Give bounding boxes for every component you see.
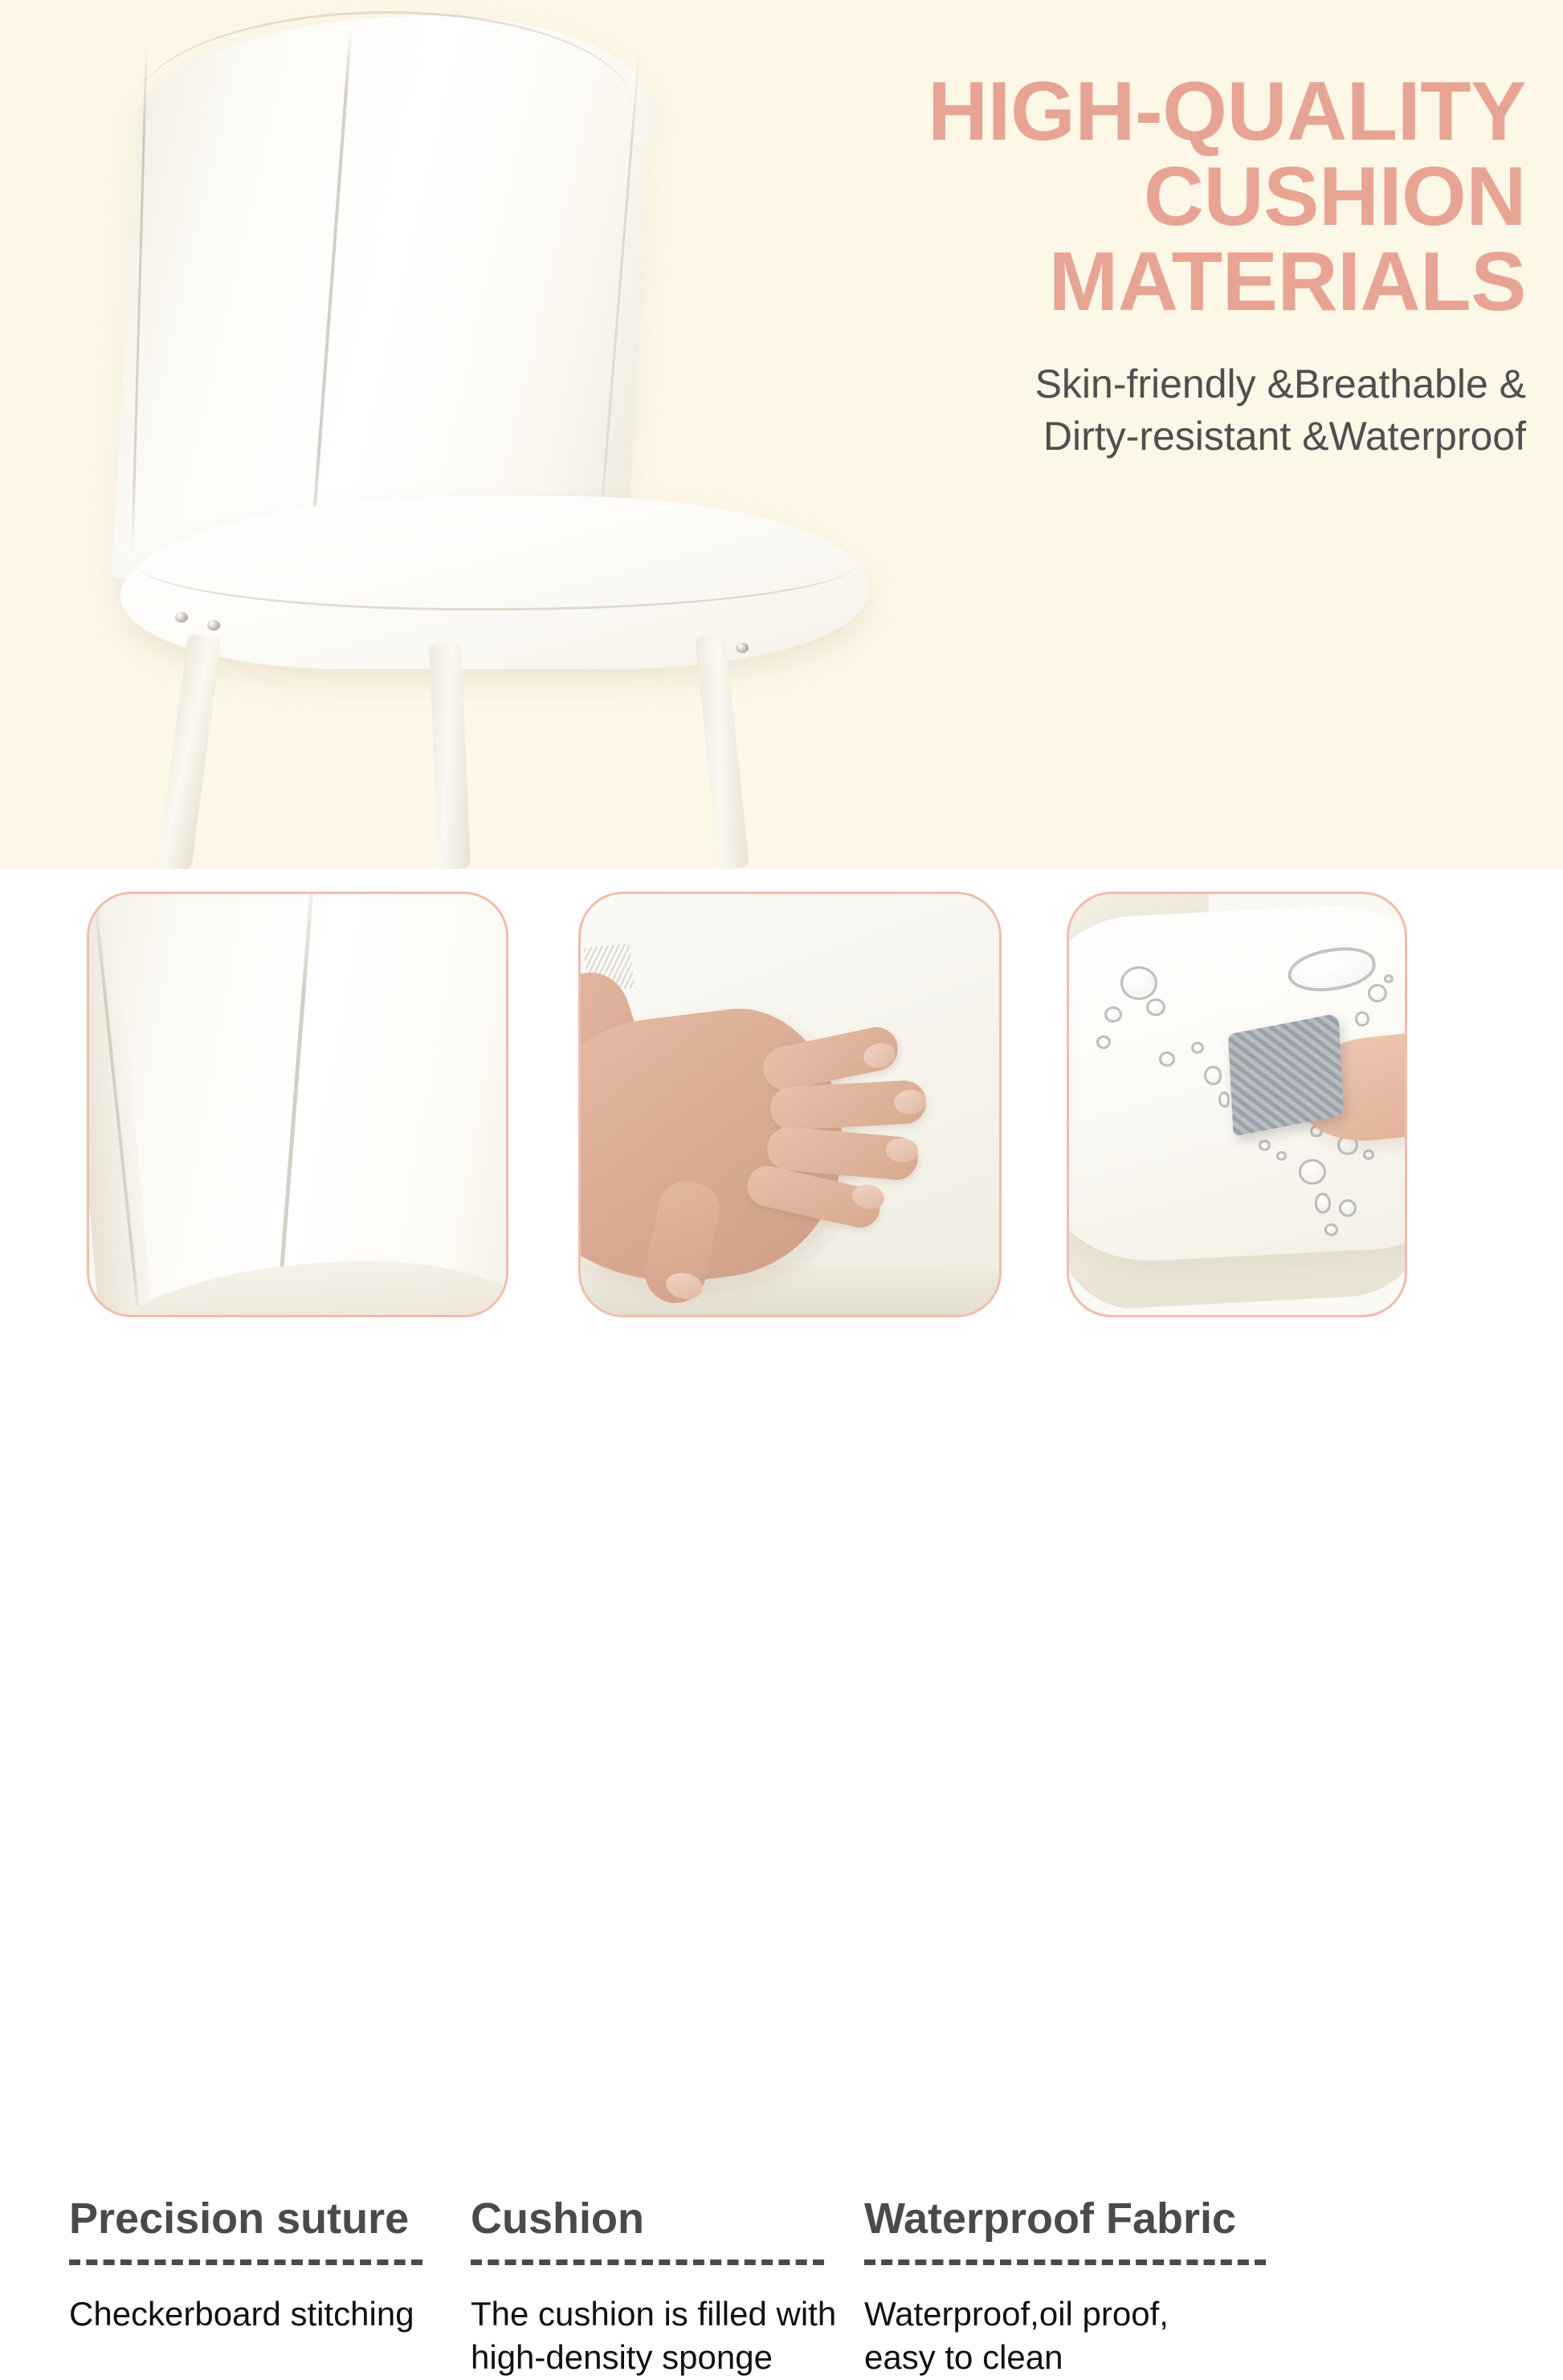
feature-title: Cushion [471, 2196, 872, 2242]
water-droplet-icon [1096, 1035, 1111, 1049]
water-droplet-icon [1339, 1199, 1357, 1217]
water-droplet-icon [1104, 1006, 1122, 1023]
hero-subtitle-line-1: Skin-friendly &Breathable & [675, 358, 1526, 410]
feature-description-line-2: high-density sponge [471, 2336, 872, 2380]
feature-cards-section: Precision suture Checkerboard stitching … [0, 869, 1563, 1563]
chair-screw-icon [207, 620, 220, 631]
cleaning-cloth-front [1228, 1013, 1344, 1137]
hero-section: HIGH-QUALITY CUSHION MATERIALS Skin-frie… [0, 0, 1563, 869]
feature-description-line-1: The cushion is filled with [471, 2292, 872, 2337]
water-droplet-icon [1299, 1159, 1326, 1185]
feature-description-line-2: easy to clean [864, 2336, 1314, 2380]
feature-caption-cushion: Cushion The cushion is filled with high-… [471, 2196, 872, 2380]
hero-headline-line-3: MATERIALS [675, 239, 1526, 325]
hero-subtitle-line-2: Dirty-resistant &Waterproof [675, 410, 1526, 463]
feature-thumbnail-cushion [578, 892, 1002, 1317]
hero-headline: HIGH-QUALITY CUSHION MATERIALS [675, 69, 1526, 325]
feature-caption-precision-suture: Precision suture Checkerboard stitching [69, 2196, 487, 2336]
chair-screw-icon [736, 643, 749, 653]
feature-card-cushion [578, 892, 1002, 1317]
feature-card-waterproof-fabric [1067, 892, 1407, 1317]
feature-title: Waterproof Fabric [864, 2196, 1314, 2242]
water-droplet-icon [1368, 984, 1387, 1002]
hero-headline-line-1: HIGH-QUALITY [675, 69, 1526, 154]
feature-divider [69, 2260, 422, 2265]
feature-caption-waterproof-fabric: Waterproof Fabric Waterproof,oil proof, … [864, 2196, 1314, 2380]
hero-copy: HIGH-QUALITY CUSHION MATERIALS Skin-frie… [675, 69, 1526, 463]
water-droplet-icon [1315, 1193, 1331, 1214]
feature-description-line-1: Waterproof,oil proof, [864, 2292, 1314, 2337]
feature-description-line-1: Checkerboard stitching [69, 2292, 487, 2337]
water-droplet-icon [1259, 1140, 1271, 1151]
chair-leg-front-right [429, 642, 471, 869]
water-droplet-icon [1324, 1223, 1338, 1236]
water-droplet-icon [1159, 1051, 1175, 1067]
chair-leg-front-left [157, 634, 222, 869]
feature-description: Checkerboard stitching [69, 2292, 487, 2337]
feature-thumbnail-precision-suture [87, 892, 508, 1317]
chair-backrest-top-curve [134, 11, 637, 108]
water-droplet-icon [1191, 1042, 1204, 1054]
water-droplet-icon [1355, 1011, 1369, 1027]
chair-leg-back-right [695, 634, 749, 869]
water-droplet-icon [1204, 1066, 1222, 1085]
feature-card-precision-suture [87, 892, 508, 1317]
feature-description: Waterproof,oil proof, easy to clean [864, 2292, 1314, 2380]
water-droplet-icon [1384, 974, 1394, 983]
chair-screw-icon [175, 612, 188, 623]
water-droplet-icon [1218, 1092, 1230, 1108]
water-droplet-icon [1146, 998, 1165, 1016]
water-droplet-icon [1276, 1151, 1287, 1161]
stitching-panel [87, 892, 508, 1317]
hero-subtitle: Skin-friendly &Breathable & Dirty-resist… [675, 358, 1526, 463]
feature-divider [864, 2260, 1266, 2265]
feature-title: Precision suture [69, 2196, 487, 2242]
feature-divider [471, 2260, 824, 2265]
hero-headline-line-2: CUSHION [675, 154, 1526, 239]
water-droplet-icon [1120, 966, 1157, 1000]
feature-thumbnail-waterproof-fabric [1067, 892, 1407, 1317]
water-droplet-icon [1363, 1149, 1374, 1160]
feature-description: The cushion is filled with high-density … [471, 2292, 872, 2380]
